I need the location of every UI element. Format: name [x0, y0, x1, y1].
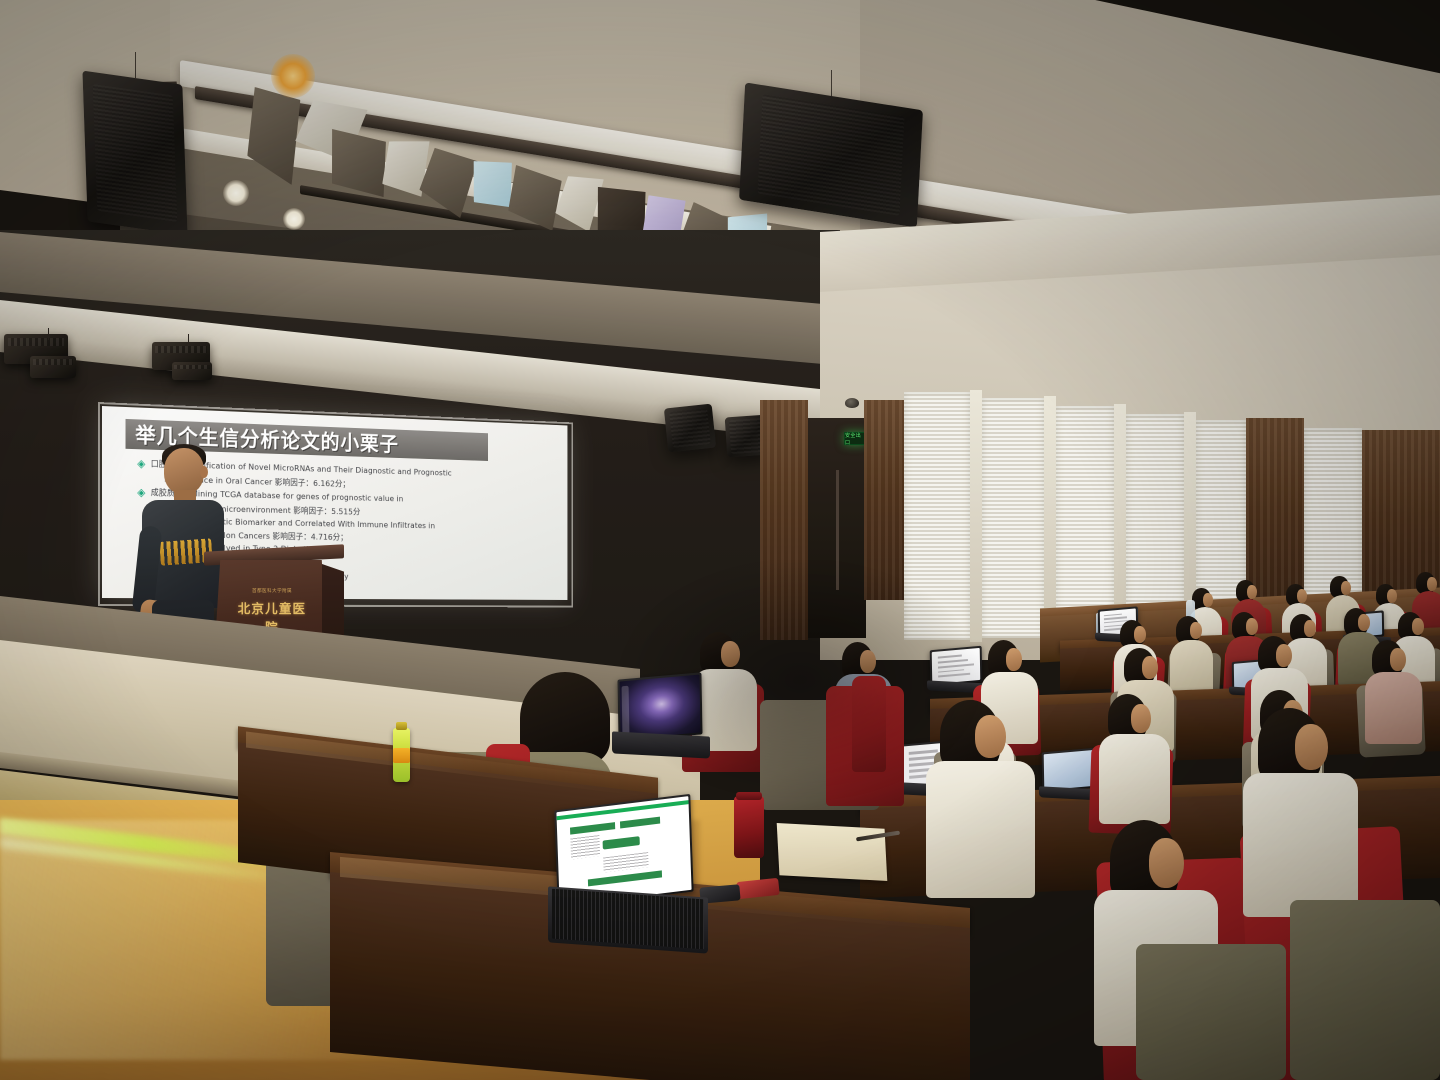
audience-face: [1387, 589, 1397, 603]
audience-face: [721, 641, 740, 667]
audience-face: [1203, 593, 1213, 607]
security-camera-icon: [845, 398, 859, 408]
wall-wood-column-left: [760, 400, 808, 640]
blind-divider-1: [970, 390, 982, 642]
ceiling-speaker: [82, 71, 187, 236]
laptop-mid-lid[interactable]: [617, 672, 702, 741]
audience-torso: [1099, 734, 1170, 824]
audience-face: [1134, 626, 1146, 643]
window-blind-3: [1056, 406, 1114, 634]
window-blind-2: [982, 398, 1044, 638]
notebook: [777, 823, 888, 881]
speaker-wire: [831, 70, 832, 96]
audience-face: [1247, 585, 1257, 599]
audience-face: [1358, 614, 1370, 631]
drink-bottle-label: [393, 748, 410, 763]
audience-seat-cushion: [1136, 944, 1286, 1080]
audience-torso: [1170, 640, 1213, 695]
audience-face: [1297, 589, 1307, 603]
laptop-mid-screen: [620, 675, 701, 740]
audience-face: [1131, 704, 1151, 733]
laptop-foreground-base[interactable]: [548, 886, 708, 953]
stage-light-2: [30, 356, 76, 378]
audience-face: [1304, 620, 1316, 637]
audience-face: [1390, 648, 1406, 671]
stage-light-4: [172, 362, 212, 380]
audience-torso: [1365, 672, 1422, 744]
laptop-mid-dock: [621, 685, 629, 734]
audience-torso: [926, 761, 1035, 898]
warm-downlight: [271, 54, 315, 98]
audience-face: [1006, 648, 1022, 671]
audience-face: [1427, 577, 1437, 591]
blind-divider-3: [1114, 404, 1126, 636]
thermos-bottle: [734, 796, 764, 858]
blind-divider-2: [1044, 396, 1056, 642]
audience-laptop-screen: [1044, 750, 1097, 790]
drink-bottle-cap: [396, 722, 407, 730]
podium-institution-subtitle: 首都医科大学附属: [240, 588, 304, 594]
audience-face: [1246, 618, 1258, 635]
speaker-wire: [135, 52, 136, 78]
downlight: [223, 180, 249, 206]
exit-sign-text: 安全出口: [845, 432, 865, 446]
door-handle: [836, 470, 839, 590]
audience-face: [1341, 581, 1351, 595]
wall-wood-column-right: [864, 400, 904, 600]
stage-light-rod-1: [48, 328, 49, 340]
foreground-person-hair: [520, 672, 610, 764]
wall-speaker-left: [664, 404, 716, 453]
presenter-ear: [200, 466, 208, 478]
audience-face: [1142, 656, 1158, 679]
audience-face: [1190, 622, 1202, 639]
audience-torso: [1243, 773, 1358, 917]
window-blind-4: [1126, 414, 1184, 630]
audience-seat-cushion: [1290, 900, 1440, 1080]
downlight: [283, 208, 305, 230]
laptop-foreground-keyboard[interactable]: [552, 889, 704, 950]
audience-chair-accent: [852, 676, 886, 772]
lecture-hall-photo: 举几个生信分析论文的小栗子 ◈口腔癌：Identification of Nov…: [0, 0, 1440, 1080]
exit-sign: 安全出口: [844, 432, 866, 445]
audience-face: [975, 715, 1006, 758]
stage-light-rod-2: [188, 334, 189, 346]
thermos-cap: [736, 792, 762, 800]
audience-face: [1295, 724, 1328, 770]
window-blind-1: [904, 392, 970, 640]
audience-face: [1276, 644, 1292, 667]
audience-face: [860, 650, 876, 673]
audience-laptop-screen: [932, 648, 981, 684]
audience-face: [1149, 838, 1184, 888]
presenter-head: [164, 448, 204, 494]
audience-face: [1412, 618, 1424, 635]
